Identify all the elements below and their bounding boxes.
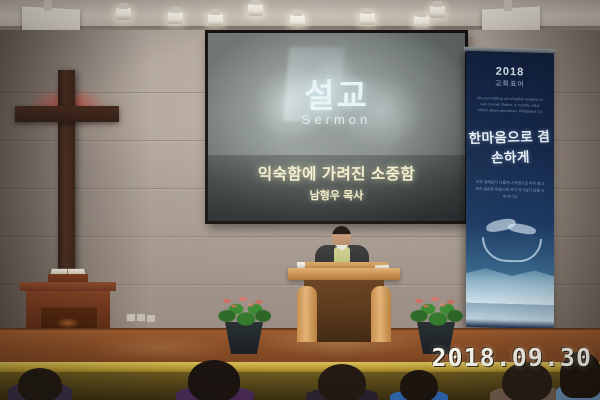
banner-verse-english: Do your nothing out of selfish ambition … <box>476 95 544 115</box>
pulpit-leg-right <box>371 286 391 342</box>
banner-calligraphy-motto: 한마음으로 겸손하게 <box>466 127 554 168</box>
ceiling-spotlight <box>168 12 183 24</box>
pulpit-leg-left <box>297 286 317 342</box>
ceiling-spotlight <box>116 8 131 20</box>
ceiling-spotlight <box>360 13 375 25</box>
speaker-bracket-right <box>504 0 512 11</box>
slide-title-english: Sermon <box>208 112 465 127</box>
church-sermon-photo: 설교 Sermon 익숙함에 가려진 소중함 남형우 목사 2018 교회표어 … <box>0 0 600 400</box>
banner-footer-text: 성서의 말씀 - 서울 한마음교회 · 빌립보서 2장 3절 · 2018년 표… <box>466 313 554 325</box>
banner-basin-icon <box>482 237 542 263</box>
camera-date-stamp: 2018.09.30 <box>431 343 592 372</box>
pulpit-top <box>288 268 400 280</box>
ceiling-spotlight <box>430 6 445 18</box>
wall-outlet[interactable] <box>136 313 146 322</box>
wooden-cross-horizontal <box>15 106 119 122</box>
slide-title-korean: 설교 <box>208 69 465 117</box>
ceiling-spotlight <box>290 15 305 27</box>
attendee-head <box>188 360 240 400</box>
banner-verse-korean: 아무 일에든지 다툼이나 허영으로 하지 말고 오직 겸손한 마음으로 각각 자… <box>474 179 546 201</box>
slide-sermon-title: 익숙함에 가려진 소중함 <box>208 162 465 184</box>
attendee-head <box>400 370 438 400</box>
speaker-bracket-left <box>44 0 52 11</box>
communion-table-top <box>20 282 116 291</box>
church-motto-banner: 2018 교회표어 Do your nothing out of selfish… <box>466 51 554 329</box>
ceiling-spotlight <box>208 14 223 26</box>
banner-subtitle: 교회표어 <box>466 78 554 90</box>
wall-outlet[interactable] <box>146 314 156 323</box>
banner-hand-icon <box>507 222 536 236</box>
projection-screen[interactable]: 설교 Sermon 익숙함에 가려진 소중함 남형우 목사 <box>208 33 465 221</box>
plant-blooms <box>409 294 463 310</box>
ceiling-spotlight <box>414 16 429 28</box>
slide-speaker-name: 남형우 목사 <box>208 187 465 203</box>
flower-arrangement-left <box>212 292 276 354</box>
attendee-head <box>18 368 62 400</box>
projection-screen-frame: 설교 Sermon 익숙함에 가려진 소중함 남형우 목사 <box>205 30 468 224</box>
wooden-cross-vertical <box>58 70 75 292</box>
wall-outlet[interactable] <box>126 313 136 322</box>
ceiling-spotlight <box>248 4 263 16</box>
attendee-head <box>318 364 366 400</box>
plant-blooms <box>217 294 271 310</box>
banner-year: 2018 <box>466 65 554 79</box>
